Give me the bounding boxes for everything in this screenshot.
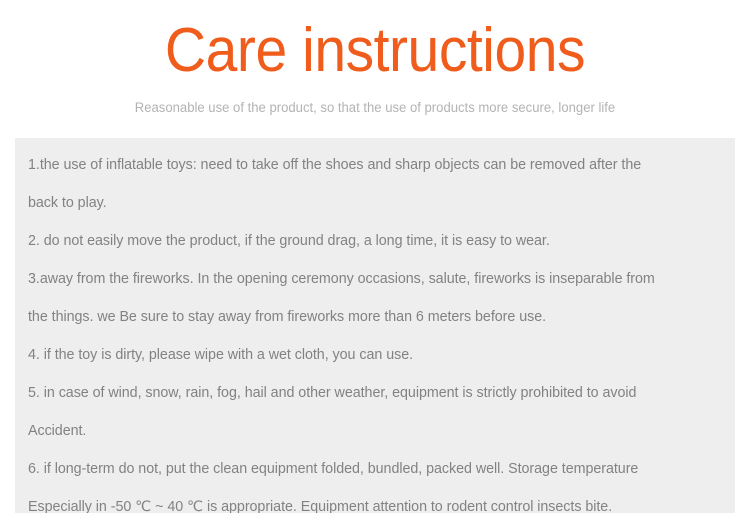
instructions-panel: 1.the use of inflatable toys: need to ta… <box>15 138 735 513</box>
instruction-line: the things. we Be sure to stay away from… <box>28 298 721 336</box>
instruction-line: 4. if the toy is dirty, please wipe with… <box>28 336 721 374</box>
instruction-line: 1.the use of inflatable toys: need to ta… <box>28 146 721 184</box>
instruction-line: 2. do not easily move the product, if th… <box>28 222 721 260</box>
instruction-list: 1.the use of inflatable toys: need to ta… <box>28 146 721 513</box>
instruction-line: Especially in -50 ℃ ~ 40 ℃ is appropriat… <box>28 488 721 513</box>
page-header: Care instructions Reasonable use of the … <box>0 0 750 118</box>
page-subtitle: Reasonable use of the product, so that t… <box>11 84 739 118</box>
instruction-line: 5. in case of wind, snow, rain, fog, hai… <box>28 374 721 412</box>
instruction-line: 6. if long-term do not, put the clean eq… <box>28 450 721 488</box>
instruction-line: back to play. <box>28 184 721 222</box>
page-title: Care instructions <box>30 18 720 84</box>
instruction-line: 3.away from the fireworks. In the openin… <box>28 260 721 298</box>
instruction-line: Accident. <box>28 412 721 450</box>
